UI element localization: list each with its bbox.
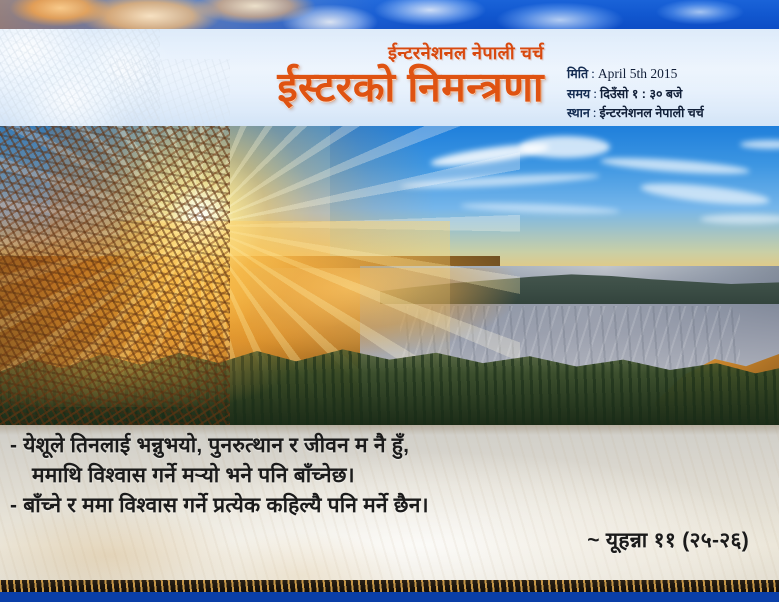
cloud-shape xyxy=(520,136,610,158)
title-block: ईन्टरनेशनल नेपाली चर्च ईस्टरको निमन्त्रण… xyxy=(0,29,560,126)
date-value: April 5th 2015 xyxy=(598,64,678,84)
verse-line-3: - बाँच्ने र ममा विश्वास गर्ने प्रत्येक क… xyxy=(10,491,765,521)
detail-row-venue: स्थान : ईन्टरनेशनल नेपाली चर्च xyxy=(567,103,775,123)
event-details-block: मिति : April 5th 2015 समय : दिउँसो १ : ३… xyxy=(563,59,779,126)
church-name-heading: ईन्टरनेशनल नेपाली चर्च xyxy=(388,44,544,64)
verse-line-2: ममाथि विश्वास गर्ने मर्‍यो भने पनि बाँच्… xyxy=(10,461,765,491)
pine-tree-silhouette-icon xyxy=(0,126,230,425)
detail-row-date: मिति : April 5th 2015 xyxy=(567,64,775,84)
venue-value: ईन्टरनेशनल नेपाली चर्च xyxy=(600,104,704,122)
sunrise-landscape-photo xyxy=(0,126,779,425)
easter-invitation-flyer: ईन्टरनेशनल नेपाली चर्च ईस्टरको निमन्त्रण… xyxy=(0,0,779,602)
date-colon: : xyxy=(591,64,595,84)
time-value: दिउँसो १ : ३० बजे xyxy=(600,85,682,103)
time-colon: : xyxy=(593,84,597,104)
header-band: ईन्टरनेशनल नेपाली चर्च ईस्टरको निमन्त्रण… xyxy=(0,29,779,126)
page-title: ईस्टरको निमन्त्रणा xyxy=(277,65,544,111)
verse-line-1: - येशूले तिनलाई भन्नुभयो, पुनरुत्थान र ज… xyxy=(10,431,765,461)
bottom-grass-strip xyxy=(0,580,779,592)
date-label: मिति xyxy=(567,65,588,83)
verse-reference: ~ यूहन्ना ११ (२५-२६) xyxy=(10,526,765,554)
venue-label: स्थान xyxy=(567,104,590,122)
scripture-text-block: - येशूले तिनलाई भन्नुभयो, पुनरुत्थान र ज… xyxy=(0,425,779,592)
detail-row-time: समय : दिउँसो १ : ३० बजे xyxy=(567,84,775,104)
venue-colon: : xyxy=(593,103,597,123)
scripture-panel: - येशूले तिनलाई भन्नुभयो, पुनरुत्थान र ज… xyxy=(0,425,779,592)
time-label: समय xyxy=(567,85,590,103)
